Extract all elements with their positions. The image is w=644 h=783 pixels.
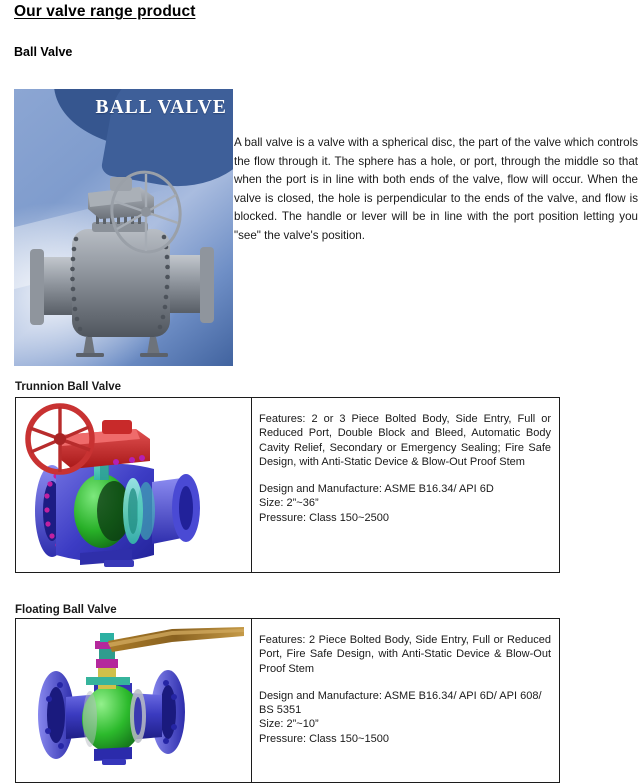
floating-ball-valve-text-cell: Features: 2 Piece Bolted Body, Side Entr…: [252, 619, 559, 782]
ball-valve-hero-image: BALL VALVE: [14, 89, 233, 366]
trunnion-ball-valve-diagram: [16, 398, 252, 572]
trunnion-ball-valve-image-cell: [16, 398, 252, 572]
document-page: Our valve range product Ball Valve: [0, 0, 644, 783]
trunnion-features-text: Features: 2 or 3 Piece Bolted Body, Side…: [259, 412, 551, 469]
floating-spec-design: Design and Manufacture: ASME B16.34/ API…: [259, 689, 551, 718]
trunnion-valve-photo-artwork: [14, 89, 233, 366]
page-subtitle: Ball Valve: [14, 45, 72, 59]
page-title: Our valve range product: [14, 3, 195, 21]
floating-ball-valve-diagram: [16, 619, 252, 782]
trunnion-spec-pressure: Pressure: Class 150~2500: [259, 511, 551, 525]
floating-spec-size: Size: 2”~10”: [259, 717, 551, 731]
section-heading-floating-ball-valve: Floating Ball Valve: [15, 604, 117, 616]
trunnion-specs-list: Design and Manufacture: ASME B16.34/ API…: [259, 482, 551, 525]
trunnion-ball-valve-text-cell: Features: 2 or 3 Piece Bolted Body, Side…: [252, 398, 559, 572]
hero-caption-text: BALL VALVE: [14, 97, 227, 119]
floating-features-text: Features: 2 Piece Bolted Body, Side Entr…: [259, 633, 551, 676]
trunnion-spec-size: Size: 2”~36”: [259, 496, 551, 510]
spec-table-trunnion-ball-valve: Features: 2 or 3 Piece Bolted Body, Side…: [15, 397, 560, 573]
floating-specs-list: Design and Manufacture: ASME B16.34/ API…: [259, 689, 551, 746]
spec-table-floating-ball-valve: Features: 2 Piece Bolted Body, Side Entr…: [15, 618, 560, 783]
ball-valve-description: A ball valve is a valve with a spherical…: [234, 134, 638, 246]
trunnion-spec-design: Design and Manufacture: ASME B16.34/ API…: [259, 482, 551, 496]
floating-spec-pressure: Pressure: Class 150~1500: [259, 732, 551, 746]
floating-ball-valve-image-cell: [16, 619, 252, 782]
section-heading-trunnion-ball-valve: Trunnion Ball Valve: [15, 381, 121, 393]
